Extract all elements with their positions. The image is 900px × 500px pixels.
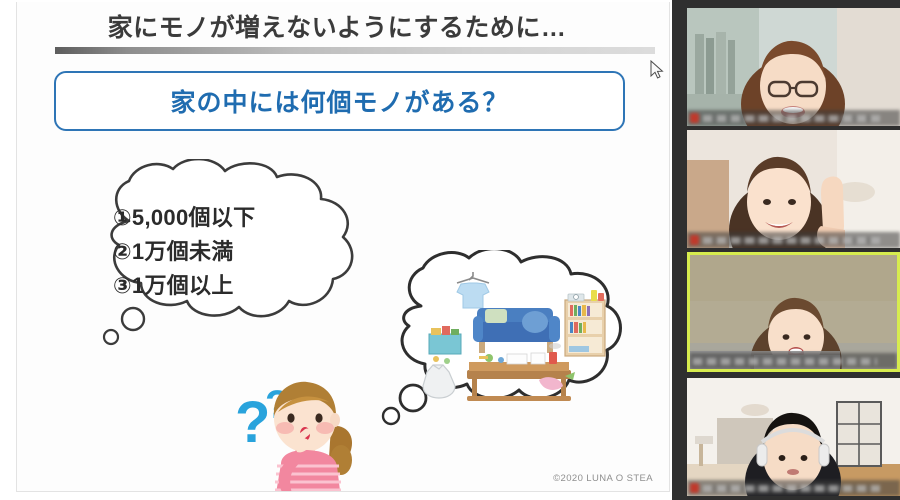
- mic-muted-icon: [690, 483, 699, 493]
- participant-tile-4[interactable]: [687, 378, 900, 496]
- participant-3-name-redacted: [693, 358, 877, 365]
- participant-4-name-redacted: [703, 485, 880, 492]
- shared-slide-region[interactable]: 家にモノが増えないようにするために… 家の中には何個モノがある？ ①5,000個…: [0, 0, 672, 500]
- participant-video-feed-2: [687, 130, 900, 248]
- video-conference-screen-share: 家にモノが増えないようにするために… 家の中には何個モノがある？ ①5,000個…: [0, 0, 900, 500]
- participant-1-image: [687, 8, 900, 126]
- toy-box-icon: [429, 326, 461, 364]
- participant-1-name-bar: [687, 110, 900, 126]
- participant-4-name-bar: [687, 480, 900, 496]
- participant-1-name-redacted: [703, 115, 880, 122]
- participant-2-image: [687, 130, 900, 248]
- participant-3-image: [690, 255, 897, 369]
- thinking-girl-illustration: [245, 374, 375, 492]
- room-thought-cloud: [369, 250, 627, 435]
- participant-2-name-redacted: [703, 237, 880, 244]
- question-callout-box: 家の中には何個モノがある？: [54, 71, 625, 131]
- answer-choice-3: ③1万個以上: [113, 269, 353, 303]
- question-text: 家の中には何個モノがある？: [170, 83, 508, 119]
- title-divider-rule: [55, 47, 655, 54]
- mic-muted-icon: [690, 235, 699, 245]
- participant-video-feed-4: [687, 378, 900, 496]
- participant-2-name-bar: [687, 232, 900, 248]
- slide-title: 家にモノが増えないようにするために…: [17, 8, 657, 44]
- participant-video-feed-3: [690, 255, 897, 369]
- cluttered-room-illustration: [369, 250, 627, 435]
- copyright-notice: ©2020 LUNA O STEA: [553, 473, 653, 484]
- mouse-cursor-arrow-icon: [650, 60, 664, 80]
- bookshelf-icon: [565, 290, 605, 356]
- participant-tile-2[interactable]: [687, 130, 900, 248]
- participant-tile-1[interactable]: [687, 8, 900, 126]
- participant-4-image: [687, 378, 900, 496]
- participant-video-feed-1: [687, 8, 900, 126]
- answer-thought-cloud: ①5,000個以下 ②1万個未満 ③1万個以上: [75, 159, 387, 349]
- mic-muted-icon: [690, 113, 699, 123]
- participant-video-panel: [672, 0, 900, 500]
- answer-choice-2: ②1万個未満: [113, 235, 353, 269]
- participant-tile-3-active-speaker[interactable]: [687, 252, 900, 372]
- trash-bag-icon: [423, 365, 455, 398]
- answer-choice-list: ①5,000個以下 ②1万個未満 ③1万個以上: [113, 201, 353, 303]
- slide-frame: 家にモノが増えないようにするために… 家の中には何個モノがある？ ①5,000個…: [16, 2, 670, 492]
- sofa-icon: [473, 308, 560, 353]
- answer-choice-1: ①5,000個以下: [113, 201, 353, 235]
- hanging-shirt-icon: [457, 272, 489, 308]
- participant-3-name-bar: [690, 353, 897, 369]
